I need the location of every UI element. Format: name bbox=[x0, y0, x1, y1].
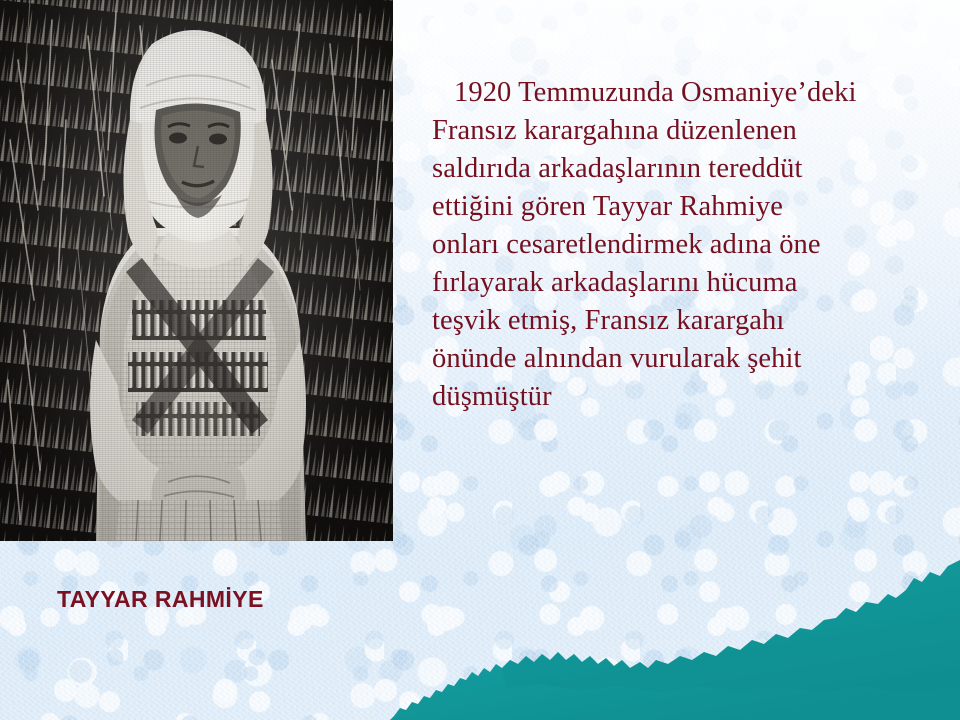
photo-vignette bbox=[0, 0, 393, 541]
body-paragraph: 1920 Temmuzunda Osmaniye’deki Fransız ka… bbox=[432, 74, 916, 416]
photo-caption: TAYYAR RAHMİYE bbox=[57, 586, 264, 613]
slide-canvas: 1920 Temmuzunda Osmaniye’deki Fransız ka… bbox=[0, 0, 960, 720]
photo-frame bbox=[0, 0, 393, 541]
